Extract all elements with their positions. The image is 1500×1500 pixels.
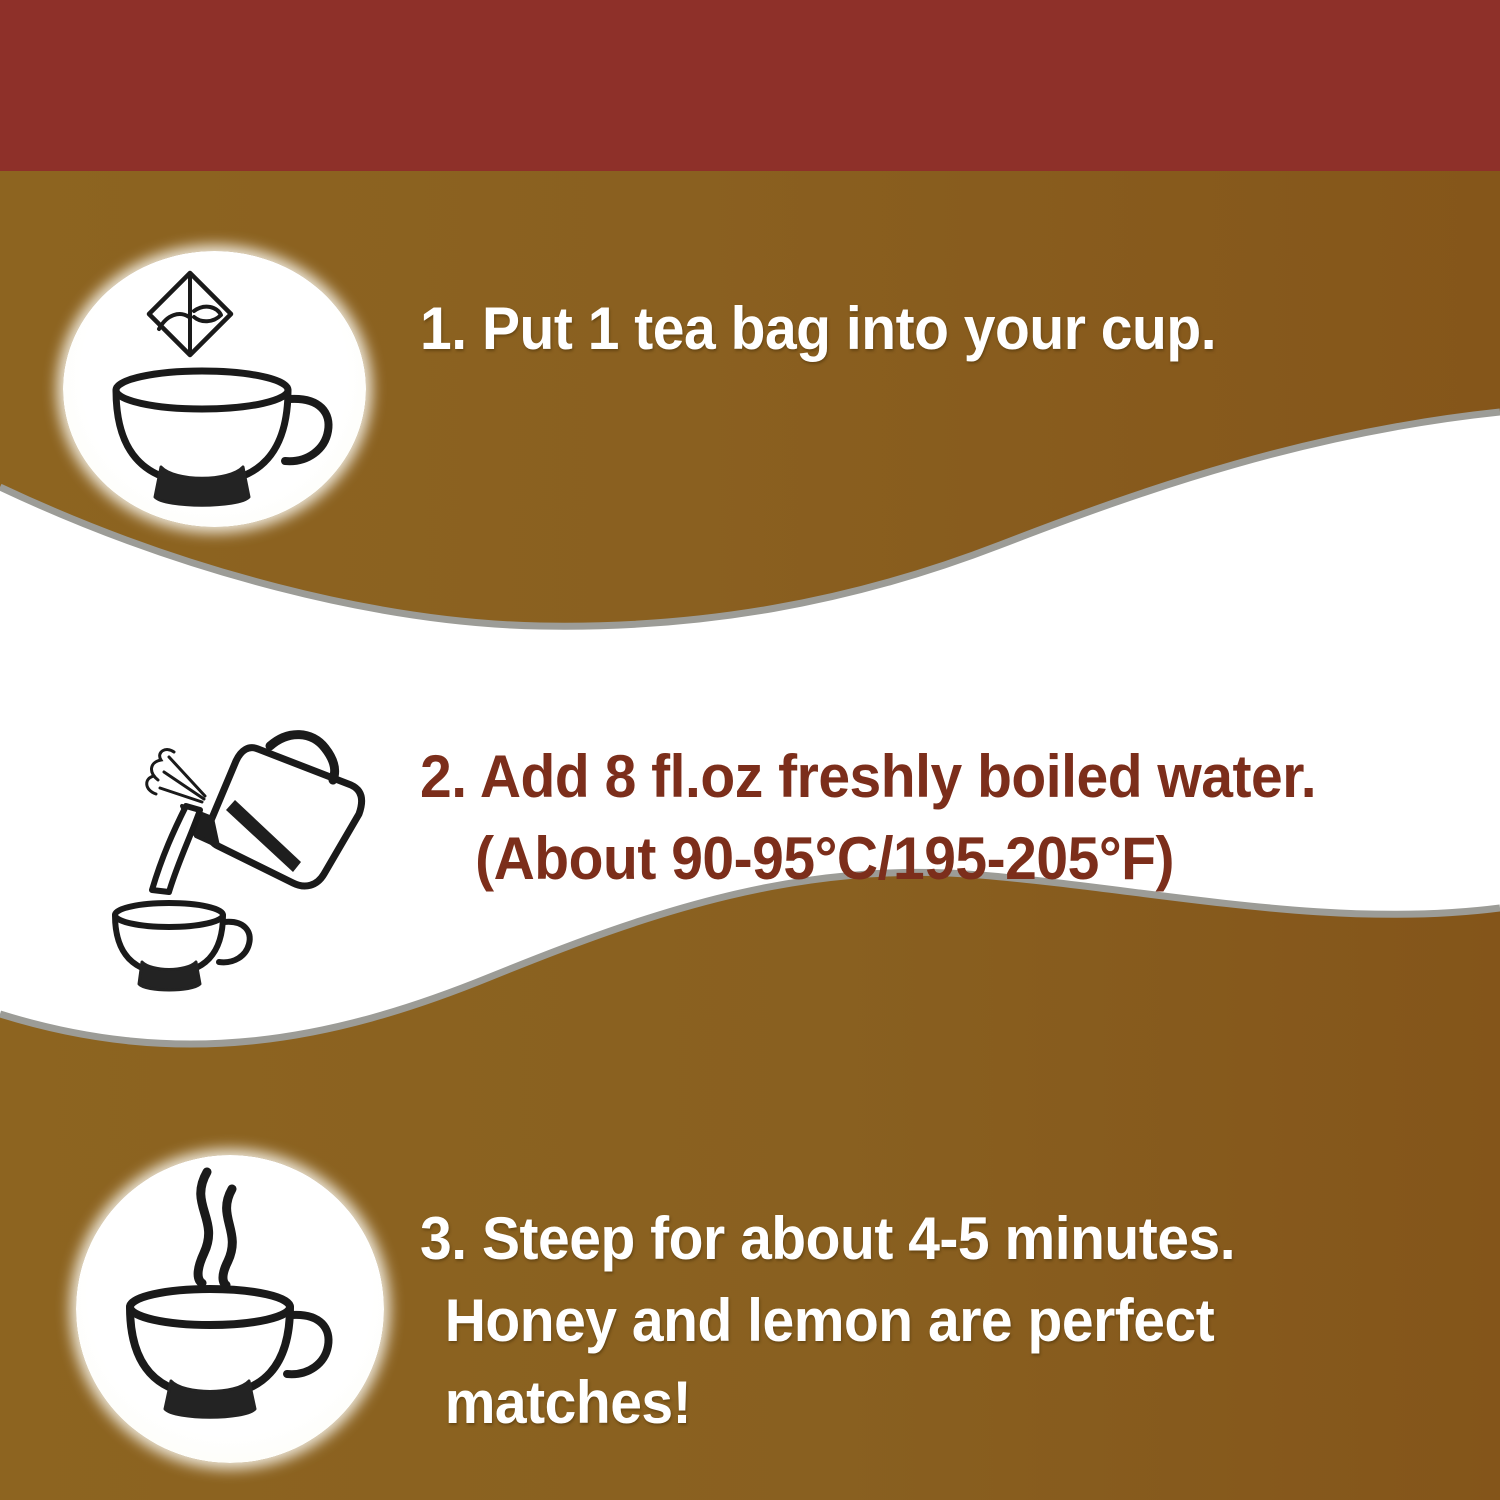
teabag-into-cup-icon <box>63 251 366 527</box>
kettle-pouring-water-icon <box>112 722 404 994</box>
steaming-cup-icon <box>76 1155 384 1463</box>
cup-foot <box>139 962 200 990</box>
step-2-text: 2. Add 8 fl.oz freshly boiled water. (Ab… <box>420 736 1363 900</box>
step-1-text: 1. Put 1 tea bag into your cup. <box>420 291 1258 367</box>
step-2-line-2: (About 90-95°C/195-205°F) <box>420 818 1316 900</box>
step-3-line-2: Honey and lemon are perfect <box>420 1280 1235 1362</box>
cup-foot <box>165 1381 255 1417</box>
step-2-line-1: 2. Add 8 fl.oz freshly boiled water. <box>420 736 1316 818</box>
water-stream <box>152 806 200 892</box>
infographic-page: Simple Steps For Great Tea <box>0 0 1500 1500</box>
cup-foot <box>155 467 249 505</box>
step-1-line-1: 1. Put 1 tea bag into your cup. <box>420 291 1216 367</box>
kettle-pouring-water-glyph <box>112 722 404 994</box>
steaming-cup-glyph <box>76 1155 384 1463</box>
header-band <box>0 0 1500 171</box>
step-3-text: 3. Steep for about 4-5 minutes. Honey an… <box>420 1198 1278 1444</box>
teabag-into-cup-glyph <box>63 251 366 527</box>
step-3-line-1: 3. Steep for about 4-5 minutes. <box>420 1198 1235 1280</box>
step-3-line-3: matches! <box>420 1362 1235 1444</box>
